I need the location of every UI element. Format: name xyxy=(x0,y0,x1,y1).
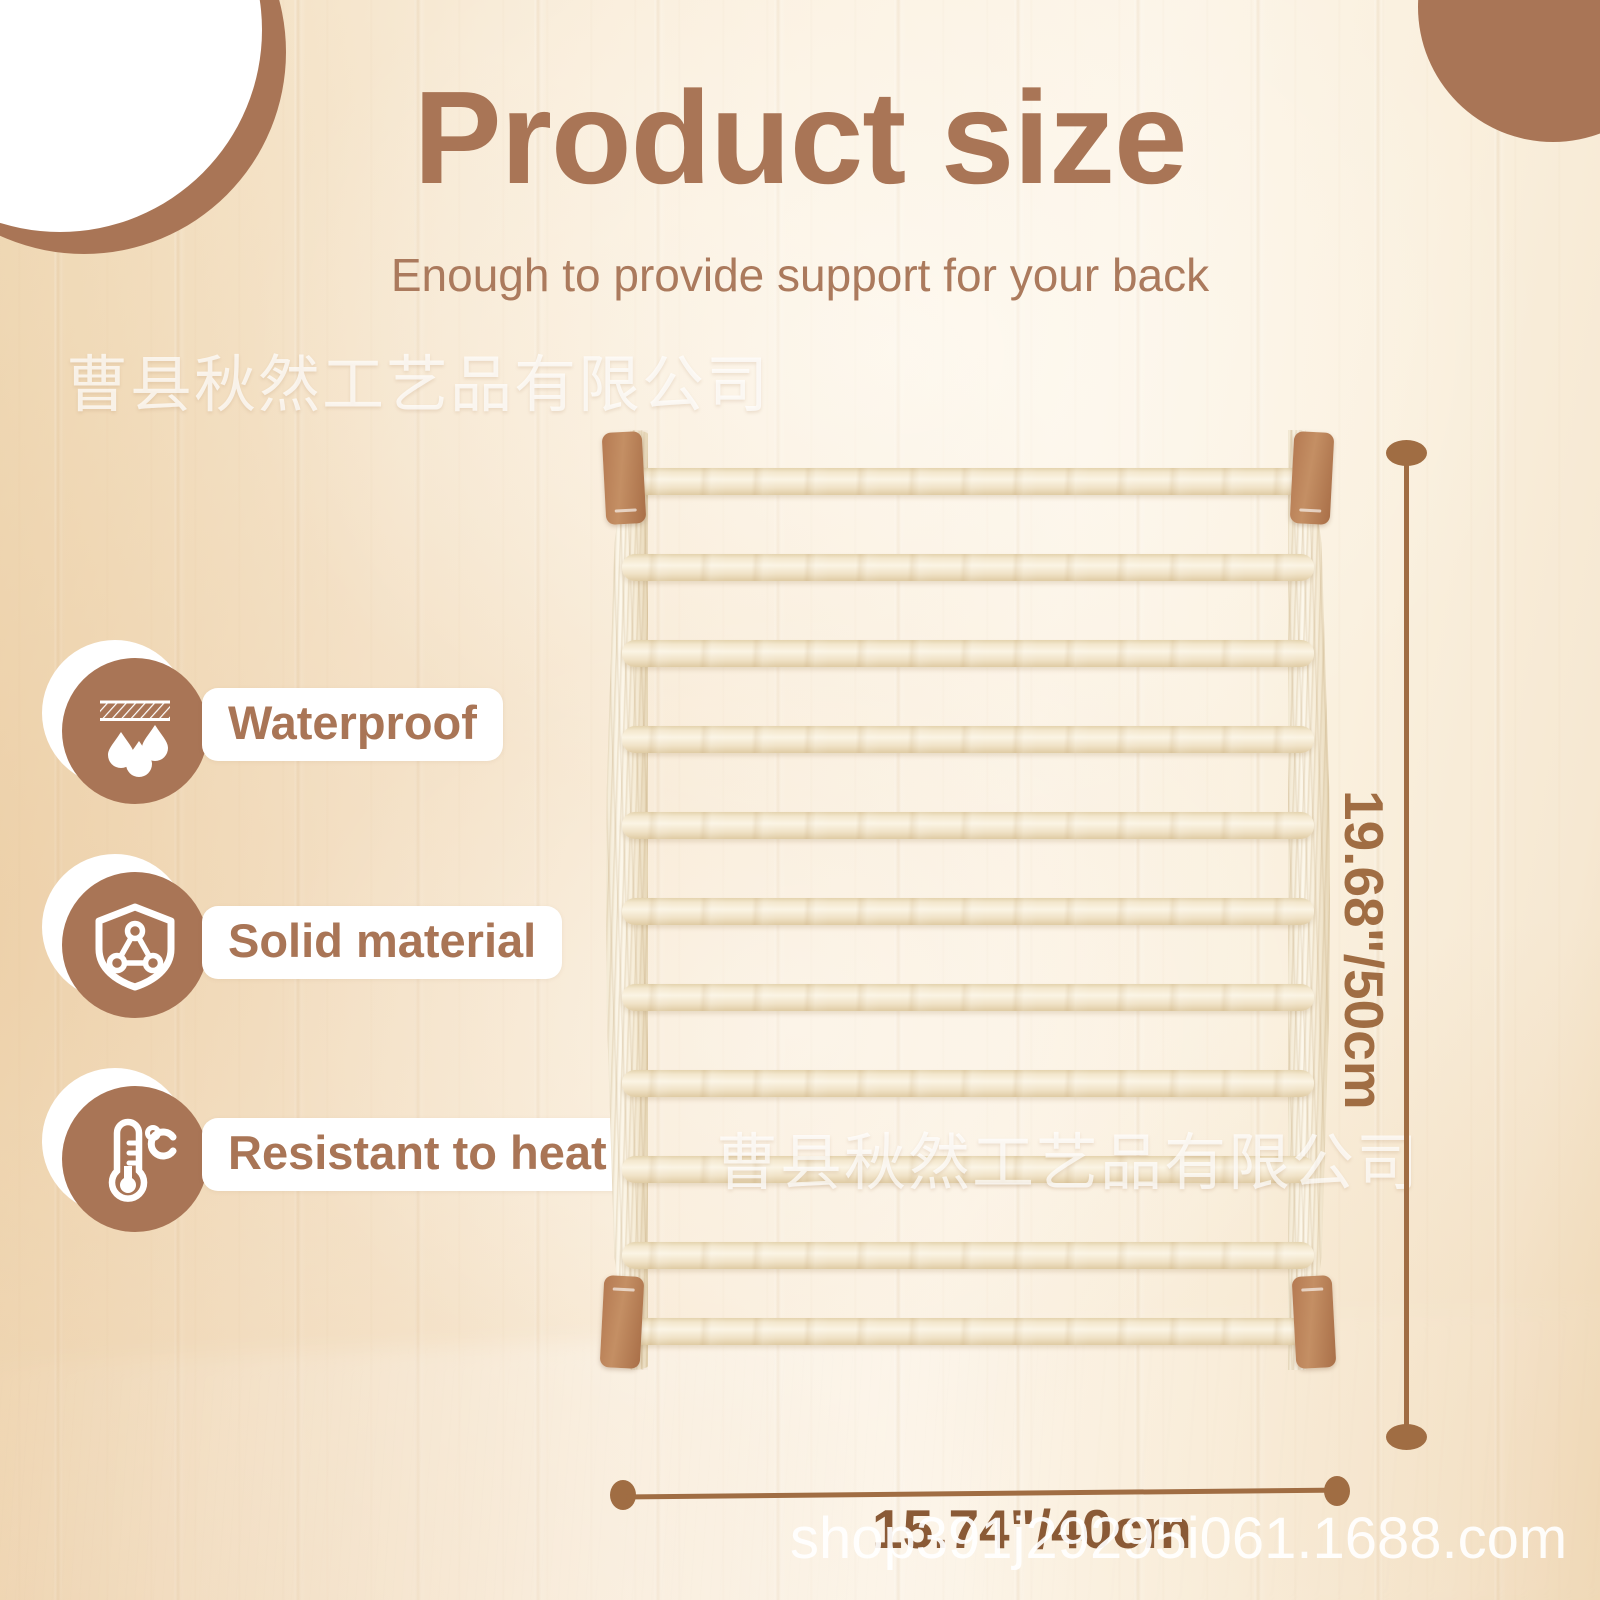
leather-corner-cap-bottom-right xyxy=(1292,1275,1337,1369)
feature-solid-material: Solid material xyxy=(42,854,662,1024)
feature-resistant-to-heat: Resistant to heat xyxy=(42,1068,662,1238)
rack-slat xyxy=(622,726,1314,753)
rack-slat xyxy=(622,1070,1314,1097)
feature-icon-wrap xyxy=(42,1068,208,1234)
rack-slat xyxy=(622,812,1314,839)
feature-icon-wrap xyxy=(42,854,208,1020)
feature-label: Solid material xyxy=(202,906,562,979)
waterproof-droplets-icon xyxy=(62,658,208,804)
dimension-endpoint-bottom xyxy=(1386,1424,1427,1450)
wooden-slat-rack xyxy=(588,430,1348,1370)
feature-label: Waterproof xyxy=(202,688,503,761)
dimension-bar xyxy=(1404,460,1409,1430)
feature-label: Resistant to heat xyxy=(202,1118,633,1191)
leather-corner-cap-bottom-left xyxy=(600,1275,645,1369)
leather-corner-cap-top-left xyxy=(602,431,647,525)
rack-slat xyxy=(622,1318,1314,1345)
rack-slat xyxy=(622,984,1314,1011)
width-dimension-label: 15.74"/40cm xyxy=(872,1497,1192,1561)
height-dimension-label: 19.68"/50cm xyxy=(1332,790,1396,1110)
dimension-endpoint-right xyxy=(1324,1476,1350,1506)
rack-slat xyxy=(622,468,1314,495)
rack-slat xyxy=(622,1156,1314,1183)
rack-slat xyxy=(622,640,1314,667)
page-subtitle: Enough to provide support for your back xyxy=(0,252,1600,298)
rack-slat xyxy=(622,898,1314,925)
thermometer-celsius-icon xyxy=(62,1086,208,1232)
feature-waterproof: Waterproof xyxy=(42,640,662,810)
rack-slat xyxy=(622,554,1314,581)
shield-molecule-icon xyxy=(62,872,208,1018)
feature-icon-wrap xyxy=(42,640,208,806)
leather-corner-cap-top-right xyxy=(1290,431,1335,525)
feature-list: Waterproof Solid material xyxy=(42,640,662,1282)
rack-slat xyxy=(622,1242,1314,1269)
product-size-poster: Product size Enough to provide support f… xyxy=(0,0,1600,1600)
page-title: Product size xyxy=(0,72,1600,204)
